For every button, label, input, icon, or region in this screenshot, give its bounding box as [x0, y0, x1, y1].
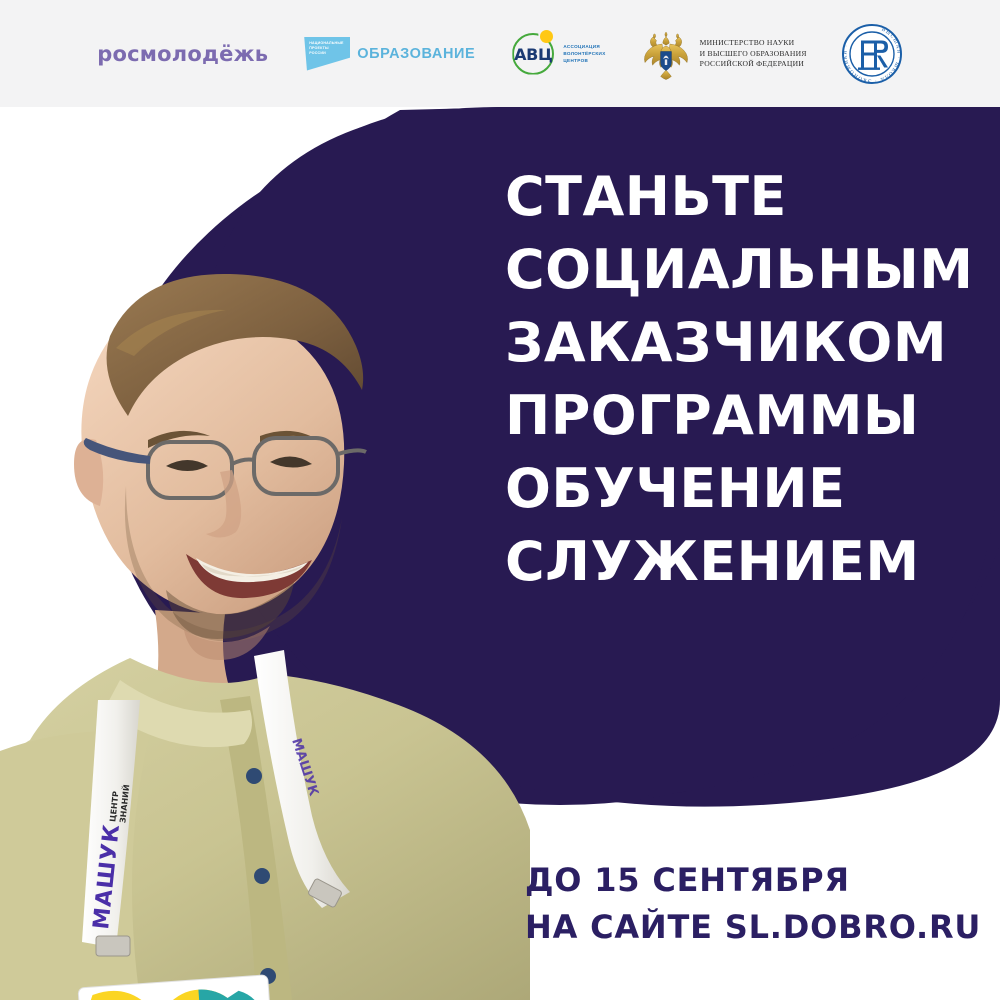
speaker-photo: МАШУК ЦЕНТР ЗНАНИЙ МАШУК ОБУЧЕНИЕ: [0, 140, 570, 1000]
headline-line-5: ОБУЧЕНИЕ: [505, 452, 995, 525]
cta-deadline: ДО 15 СЕНТЯБРЯ: [525, 857, 995, 904]
cta-website[interactable]: НА САЙТЕ SL.DOBRO.RU: [525, 904, 995, 951]
headline-line-1: СТАНЬТЕ: [505, 160, 995, 233]
call-to-action: ДО 15 СЕНТЯБРЯ НА САЙТЕ SL.DOBRO.RU: [525, 857, 995, 951]
headline-line-4: ПРОГРАММЫ: [505, 379, 995, 452]
headline-line-6: СЛУЖЕНИЕМ: [505, 525, 995, 598]
headline-line-3: ЗАКАЗЧИКОМ: [505, 306, 995, 379]
headline: СТАНЬТЕ СОЦИАЛЬНЫМ ЗАКАЗЧИКОМ ПРОГРАММЫ …: [505, 160, 995, 598]
headline-line-2: СОЦИАЛЬНЫМ: [505, 233, 995, 306]
